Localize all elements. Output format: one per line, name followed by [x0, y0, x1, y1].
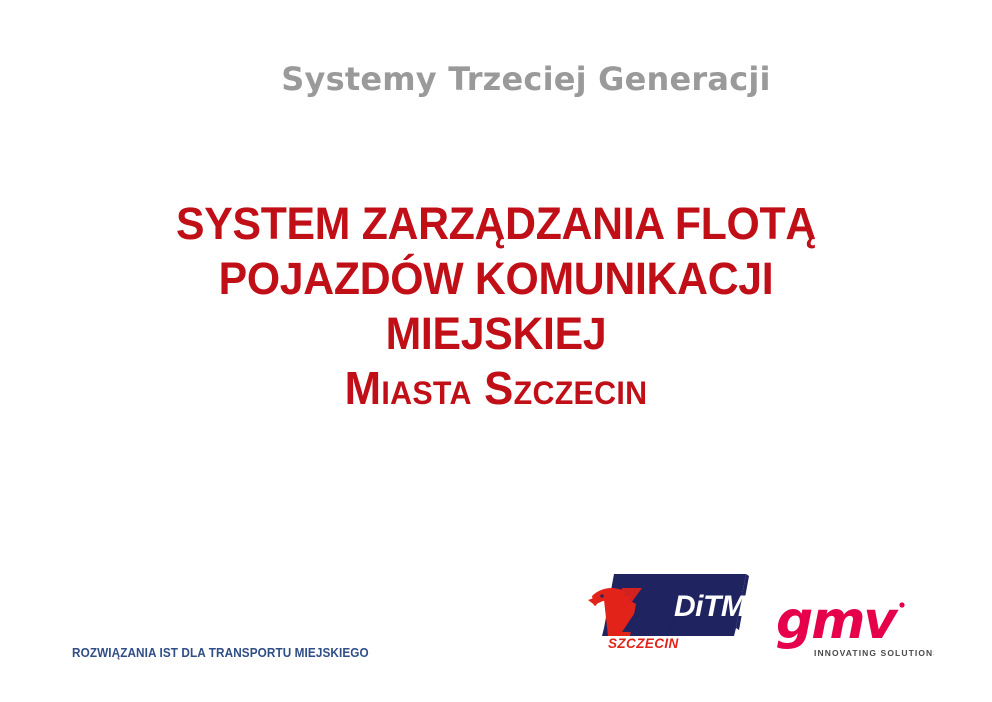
gmv-tagline-text: INNOVATING SOLUTIONS — [814, 648, 934, 658]
gmv-wordmark-text: gmv — [776, 591, 899, 651]
zditm-subtitle-text: SZCZECIN — [608, 636, 679, 651]
gmv-logo-graphic: gmv INNOVATING SOLUTIONS — [774, 588, 934, 666]
footer-tagline: ROZWIĄZANIA IST DLA TRANSPORTU MIEJSKIEG… — [72, 646, 369, 660]
title-line-2: POJAZDÓW KOMUNIKACJI — [25, 251, 967, 306]
title-line-4: Miasta Szczecin — [25, 361, 967, 416]
logo-group: DiTM SZCZECIN gmv INNOVATING SOLUTIONS — [586, 566, 946, 676]
gmv-registered-mark — [899, 602, 904, 607]
slide-title-block: SYSTEM ZARZĄDZANIA FLOTĄ POJAZDÓW KOMUNI… — [0, 196, 992, 416]
zditm-wordmark-text: DiTM — [674, 590, 747, 623]
zditm-logo: DiTM SZCZECIN — [586, 566, 751, 666]
title-line-1: SYSTEM ZARZĄDZANIA FLOTĄ — [25, 196, 967, 251]
slide-header: Systemy Trzeciej Generacji — [0, 62, 992, 97]
zditm-logo-graphic: DiTM SZCZECIN — [586, 566, 751, 666]
presentation-slide: Systemy Trzeciej Generacji SYSTEM ZARZĄD… — [0, 0, 992, 702]
header-title: Systemy Trzeciej Generacji — [281, 62, 770, 97]
gmv-logo: gmv INNOVATING SOLUTIONS — [774, 588, 934, 666]
title-line-3: MIEJSKIEJ — [25, 306, 967, 361]
